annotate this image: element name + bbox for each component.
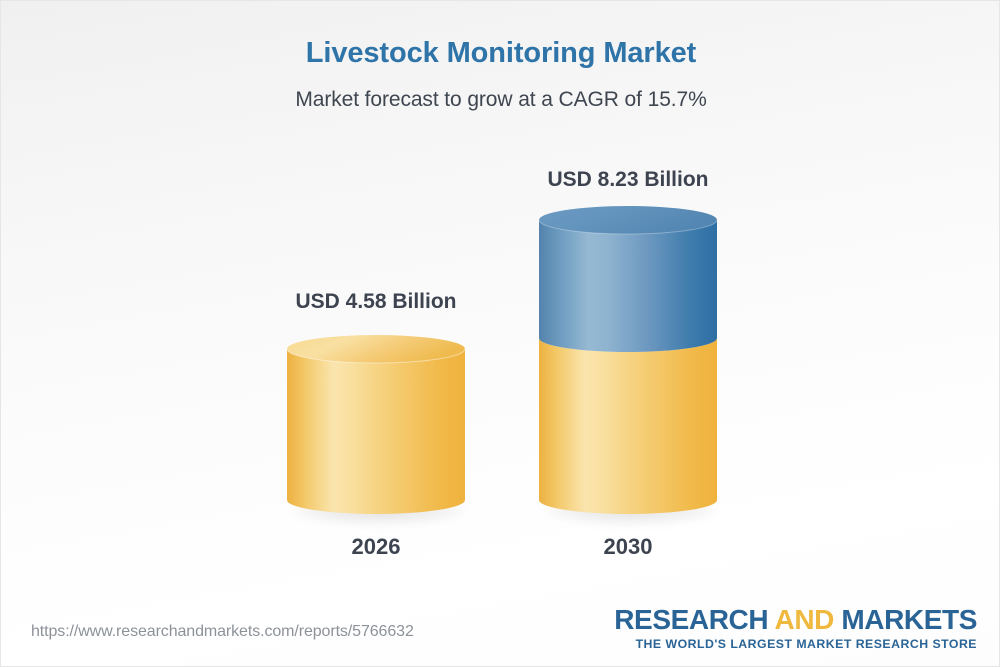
bar-value-label-2030: USD 8.23 Billion	[538, 168, 718, 192]
chart-plot-area: USD 4.58 Billion 2026	[1, 1, 1000, 667]
logo-word-markets: MARKETS	[834, 604, 977, 635]
logo-tagline: THE WORLD'S LARGEST MARKET RESEARCH STOR…	[614, 634, 977, 651]
logo-word-research: RESEARCH	[614, 604, 774, 635]
logo-word-and: AND	[775, 604, 834, 635]
bar-value-label-2026: USD 4.58 Billion	[286, 290, 466, 314]
bar-category-label-2026: 2026	[286, 534, 466, 560]
report-url-link[interactable]: https://www.researchandmarkets.com/repor…	[31, 623, 414, 641]
infographic-canvas: Livestock Monitoring Market Market forec…	[0, 0, 1000, 667]
bar-cylinder-2026[interactable]	[287, 335, 465, 514]
bar-cylinder-2026-shape	[287, 335, 465, 514]
bar-category-label-2030: 2030	[538, 534, 718, 560]
brand-logo[interactable]: RESEARCH AND MARKETS THE WORLD'S LARGEST…	[614, 605, 977, 651]
bar-cylinder-2030-shape	[539, 206, 717, 514]
bar-cylinder-2030[interactable]	[539, 206, 717, 514]
logo-wordmark: RESEARCH AND MARKETS	[614, 605, 977, 634]
